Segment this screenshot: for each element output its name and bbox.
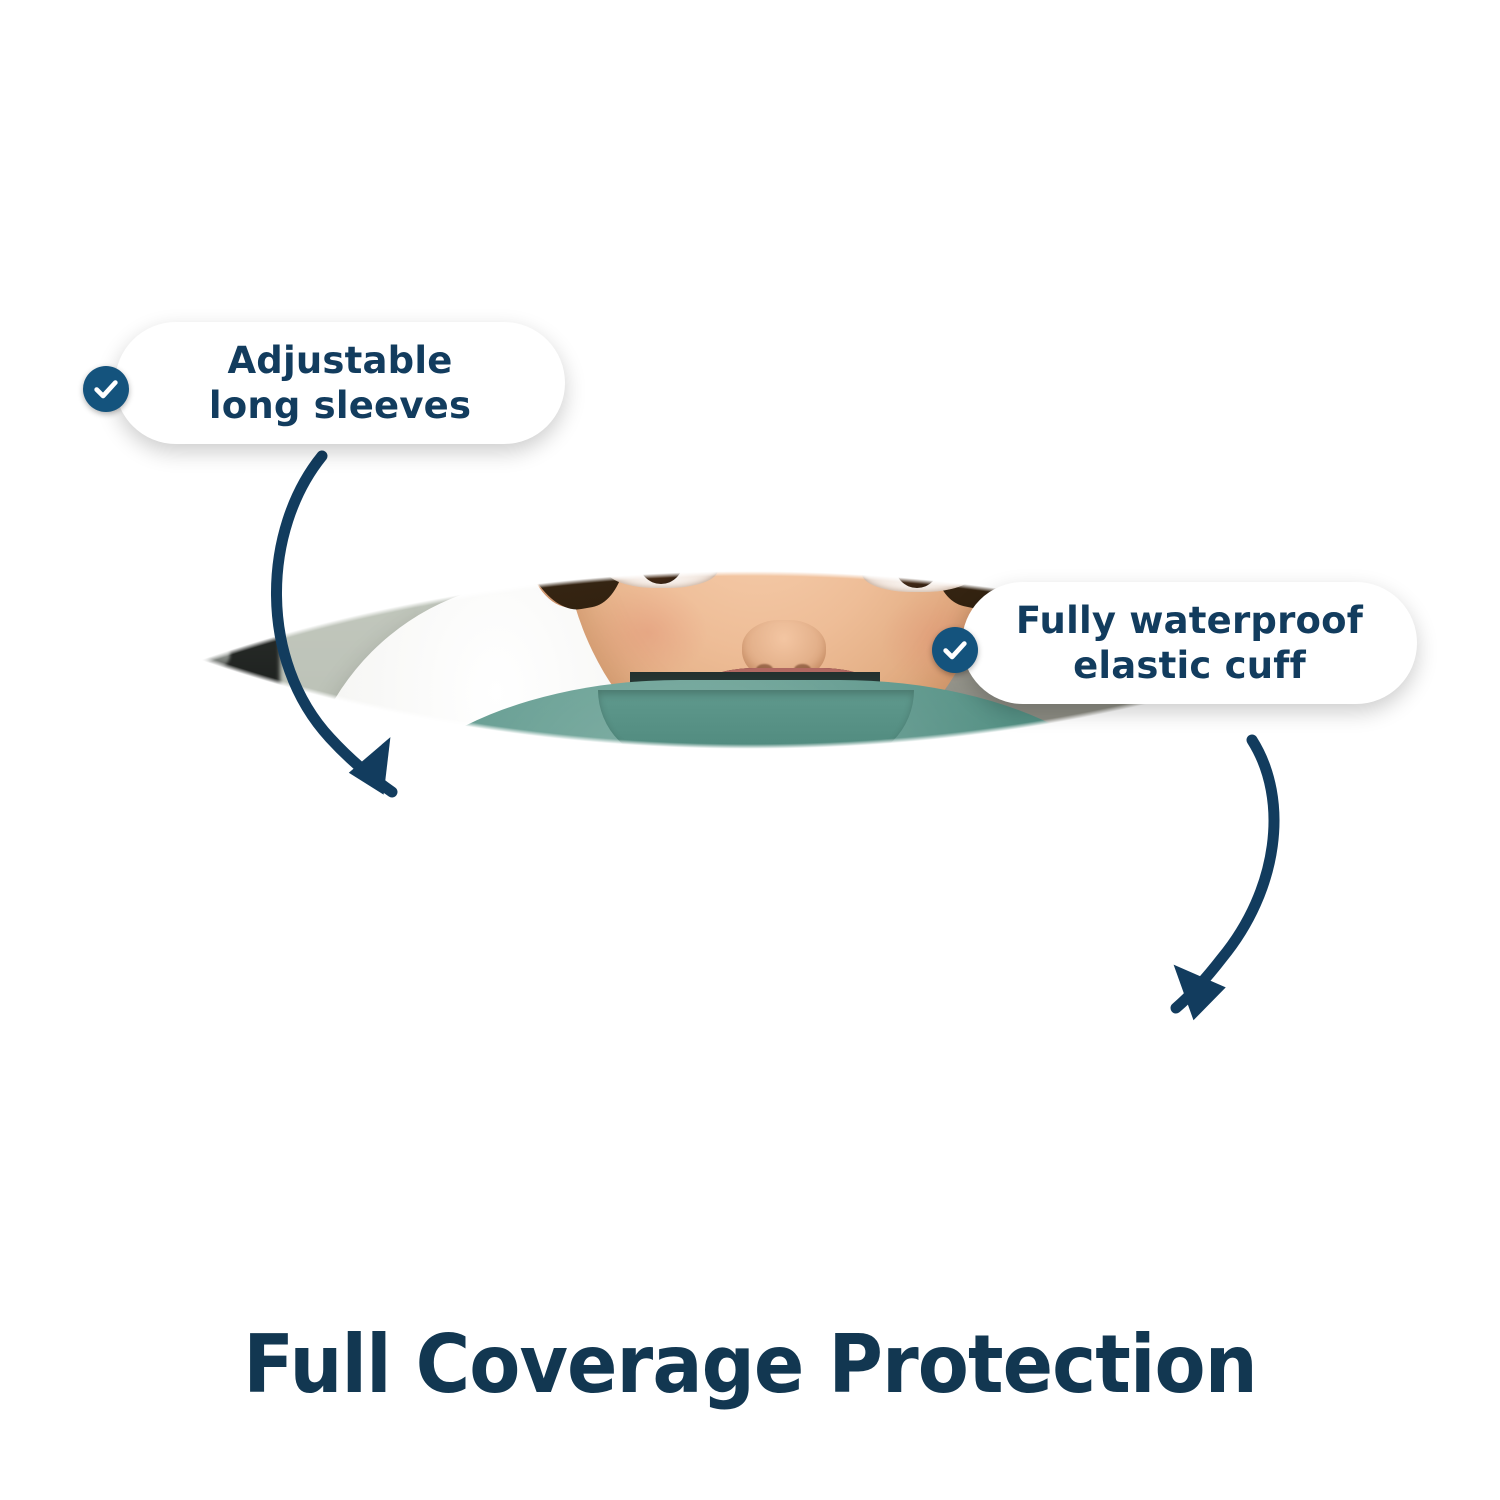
eye-glint	[902, 550, 916, 562]
iris	[639, 540, 683, 584]
tray-cover	[1098, 1120, 1228, 1230]
eyelash	[606, 532, 718, 546]
finger	[878, 1050, 929, 1148]
oven-door-glass	[0, 700, 240, 1030]
bib-collar	[598, 690, 914, 762]
range-knob	[0, 480, 44, 562]
callout-adjustable-long-sleeves[interactable]: Adjustable long sleeves	[115, 322, 565, 444]
callout-fully-waterproof-elastic-cuff[interactable]: Fully waterproof elastic cuff	[962, 582, 1417, 704]
eyelash	[862, 536, 974, 550]
plate-compartment	[871, 1156, 1038, 1254]
callout-label: Adjustable long sleeves	[209, 338, 471, 428]
range-knob	[54, 488, 112, 570]
iris	[895, 544, 939, 588]
check-circle-icon	[932, 627, 978, 673]
product-feature-card: Adjustable long sleeves Fully waterproof…	[0, 0, 1500, 1500]
fabric-highlight	[300, 820, 450, 950]
eye-glint	[646, 546, 660, 558]
range-knob	[122, 496, 180, 578]
child-eye-left	[606, 532, 718, 588]
check-circle-icon	[83, 366, 129, 412]
child-eye-right	[862, 536, 974, 592]
oven-handle	[0, 642, 230, 668]
callout-label: Fully waterproof elastic cuff	[1016, 598, 1363, 688]
plate-compartment	[716, 1158, 866, 1254]
tray-left-well	[68, 1045, 308, 1205]
fabric-highlight	[520, 760, 730, 910]
plate-compartment	[448, 1160, 708, 1256]
page-headline: Full Coverage Protection	[53, 1318, 1448, 1411]
